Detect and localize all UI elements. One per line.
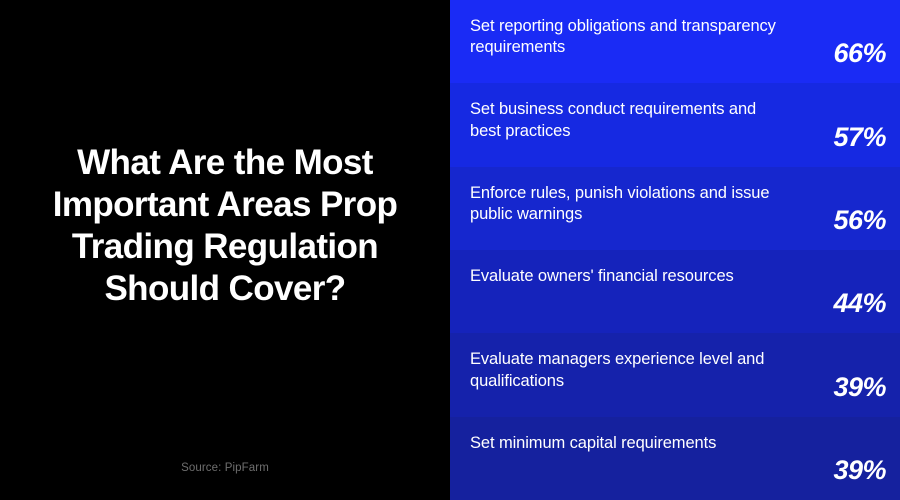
bar-label: Set minimum capital requirements	[470, 433, 788, 454]
bar-label: Enforce rules, punish violations and iss…	[470, 183, 788, 226]
table-row: Evaluate managers experience level and q…	[450, 333, 900, 416]
bar-label: Set reporting obligations and transparen…	[470, 16, 788, 59]
bar-label: Set business conduct requirements and be…	[470, 99, 788, 142]
table-row: Set business conduct requirements and be…	[450, 83, 900, 166]
bar-label: Evaluate managers experience level and q…	[470, 349, 788, 392]
bar-chart-panel: Set reporting obligations and transparen…	[450, 0, 900, 500]
bar-value: 39%	[833, 455, 886, 486]
bar-value: 56%	[833, 205, 886, 236]
bar-value: 44%	[833, 288, 886, 319]
table-row: Evaluate owners' financial resources 44%	[450, 250, 900, 333]
bar-value: 39%	[833, 372, 886, 403]
table-row: Set reporting obligations and transparen…	[450, 0, 900, 83]
table-row: Set minimum capital requirements 39%	[450, 417, 900, 500]
source-attribution: Source: PipFarm	[0, 462, 450, 474]
table-row: Enforce rules, punish violations and iss…	[450, 167, 900, 250]
title-panel: What Are the Most Important Areas Prop T…	[0, 0, 450, 500]
bar-label: Evaluate owners' financial resources	[470, 266, 788, 287]
page-title: What Are the Most Important Areas Prop T…	[28, 142, 422, 310]
infographic-root: What Are the Most Important Areas Prop T…	[0, 0, 900, 500]
bar-value: 66%	[833, 38, 886, 69]
bar-value: 57%	[833, 122, 886, 153]
